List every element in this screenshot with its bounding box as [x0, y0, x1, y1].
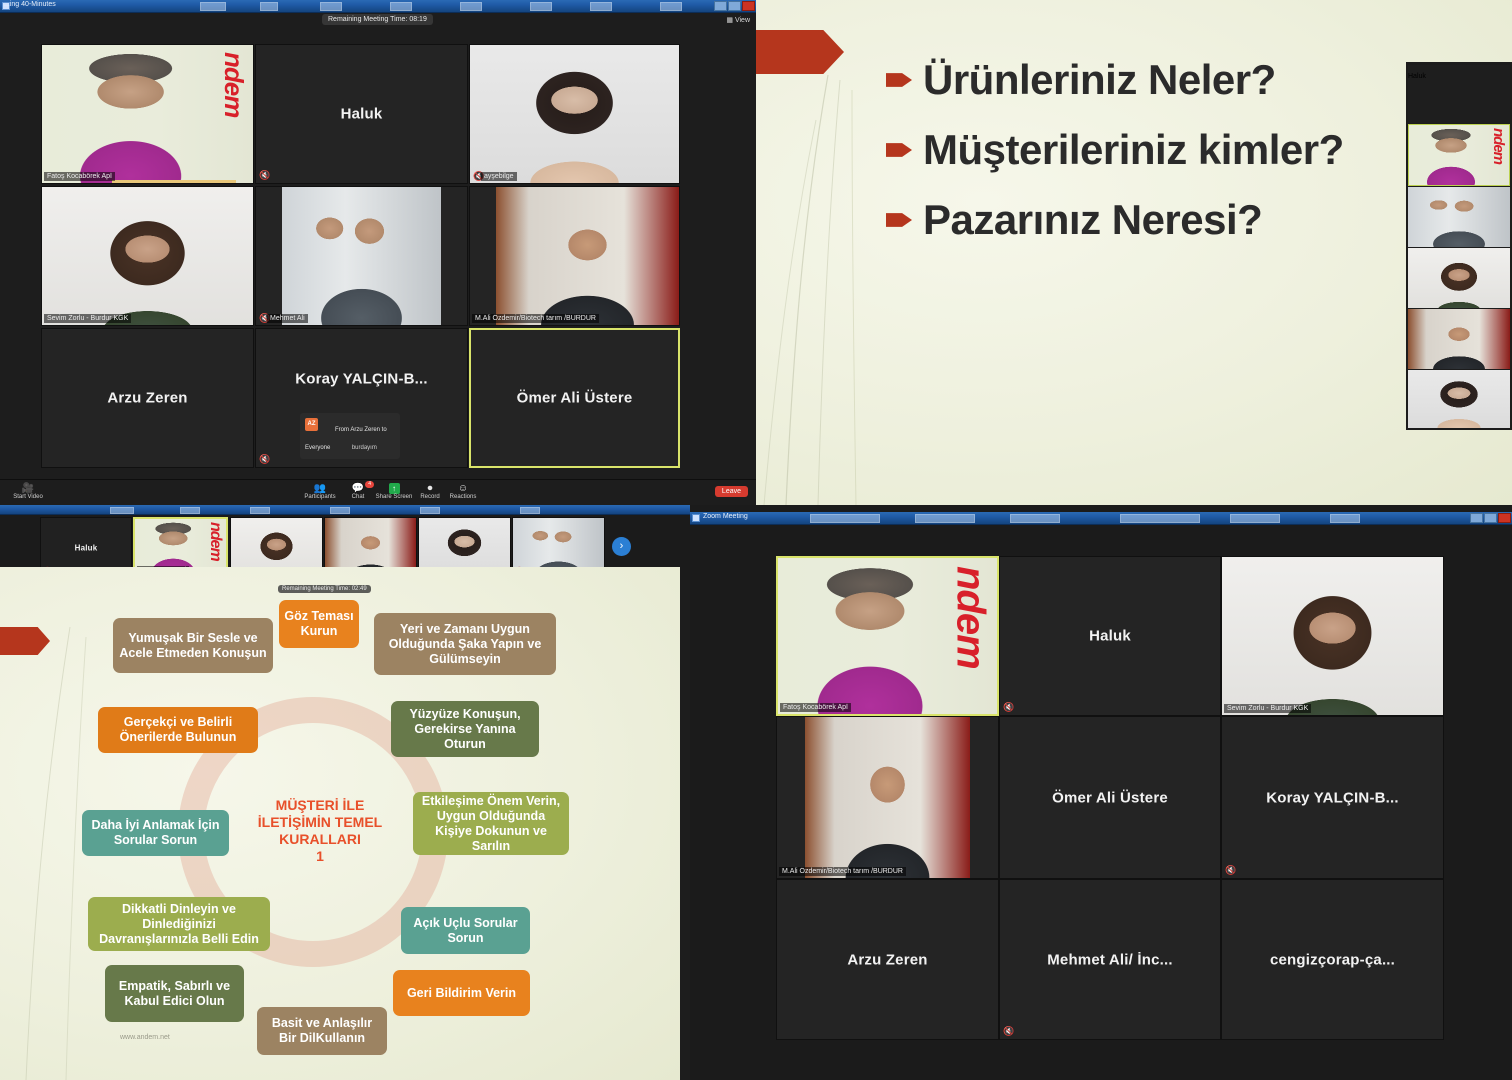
- diagram-box: Açık Uçlu Sorular Sorun: [401, 907, 530, 954]
- diagram-box: Gerçekçi ve Belirli Önerilerde Bulunun: [98, 707, 258, 753]
- participant-name: cengizçorap-ça...: [1222, 951, 1443, 968]
- participant-name: Sevim Zorlu - Burdur KGK: [1224, 704, 1311, 713]
- panel-top-right-slide: Ürünleriniz Neler? Müşterileriniz kimler…: [756, 0, 1512, 505]
- participant-video: [1222, 557, 1443, 715]
- filmstrip-next-button[interactable]: ›: [612, 537, 631, 556]
- participant-name: M.Ali Özdemir/Biotech tarım /BURDUR: [472, 314, 599, 323]
- bullet-text: Müşterileriniz kimler?: [923, 126, 1344, 174]
- view-button-label: View: [735, 17, 750, 24]
- participant-video: [42, 187, 253, 325]
- participant-video: [805, 717, 970, 878]
- window-title-bar: Zoom Meeting: [690, 512, 1512, 525]
- participant-name: Ömer Ali Üstere: [471, 390, 678, 407]
- filmstrip-tile[interactable]: Haluk: [1408, 65, 1510, 123]
- panel-bottom-right-zoom-window: Zoom Meeting ndem Fatoş Kocabörek Apİ Ha…: [690, 505, 1512, 1080]
- participant-video: [1408, 248, 1510, 308]
- diagram-slide: Göz Teması Kurun Yumuşak Bir Sesle ve Ac…: [0, 567, 680, 1080]
- minimize-button[interactable]: [1470, 513, 1483, 523]
- video-tile[interactable]: Arzu Zeren: [776, 879, 999, 1040]
- participant-name: ayşebilge: [481, 172, 517, 181]
- zoom-toolbar: 🎥 Start Video 👥 Participants 💬 4 Chat ↑ …: [0, 479, 756, 505]
- chat-label: Chat: [352, 494, 365, 500]
- participant-video: [1408, 187, 1510, 247]
- diagram-box: Dikkatli Dinleyin ve Dinlediğinizi Davra…: [88, 897, 270, 951]
- window-title-bar: [0, 505, 690, 515]
- panel-bottom-left: Haluk 🔇 ndem Fatoş Kocabörek Apİ Sevim Z…: [0, 505, 690, 1080]
- participant-name: Koray YALÇIN-B...: [1222, 789, 1443, 806]
- reactions-button[interactable]: ☺ Reactions: [437, 483, 489, 500]
- diagram-box: Geri Bildirim Verin: [393, 970, 530, 1016]
- diagram-center-title: MÜŞTERİ İLE İLETİŞİMİN TEMEL KURALLARI 1: [240, 797, 400, 865]
- video-tile[interactable]: Sevim Zorlu - Burdur KGK: [1221, 556, 1444, 716]
- bullet-arrow-icon: [886, 71, 912, 90]
- video-tile[interactable]: Mehmet Ali/ İnc... 🔇: [999, 879, 1221, 1040]
- video-tile[interactable]: Ömer Ali Üstere: [999, 716, 1221, 879]
- filmstrip: Haluk ndem Fatoş Kocabörek Apİ Mehmet Al…: [1406, 62, 1512, 430]
- participant-name: Haluk: [41, 543, 131, 552]
- reactions-icon: ☺: [437, 483, 489, 494]
- window-controls[interactable]: [1470, 513, 1511, 523]
- video-tile[interactable]: M.Ali Özdemir/Biotech tarım /BURDUR: [469, 186, 680, 326]
- window-title: ...ing 40-Minutes: [4, 1, 56, 8]
- start-video-label: Start Video: [13, 494, 43, 500]
- window-title: Zoom Meeting: [703, 513, 748, 520]
- participant-name: Koray YALÇIN-B...: [256, 371, 467, 388]
- muted-icon: 🔇: [1225, 866, 1233, 875]
- video-tile-active-speaker[interactable]: Ömer Ali Üstere: [469, 328, 680, 468]
- maximize-button[interactable]: [1484, 513, 1497, 523]
- leave-button[interactable]: Leave: [715, 486, 748, 497]
- filmstrip-tile[interactable]: M.Ali Özdemir/Biotech t...: [1408, 309, 1510, 369]
- filmstrip-tile[interactable]: 🔇 ayşebilge: [1408, 370, 1510, 428]
- muted-icon: 🔇: [1003, 703, 1011, 712]
- video-tile[interactable]: ndem Fatoş Kocabörek Apİ: [41, 44, 254, 184]
- video-tile[interactable]: Koray YALÇIN-B... 🔇: [1221, 716, 1444, 879]
- window-title-bar: ...ing 40-Minutes: [0, 0, 756, 13]
- slide-bullet-list: Ürünleriniz Neler? Müşterileriniz kimler…: [886, 56, 1344, 266]
- video-tile[interactable]: Sevim Zorlu - Burdur KGK: [41, 186, 254, 326]
- participant-name: Fatoş Kocabörek Apİ: [44, 172, 115, 181]
- participant-video: ndem: [778, 558, 997, 714]
- video-tile[interactable]: cengizçorap-ça...: [1221, 879, 1444, 1040]
- meeting-timer: Remaining Meeting Time: 02:49: [278, 585, 371, 593]
- participant-name: Haluk: [256, 106, 467, 123]
- minimize-button[interactable]: [714, 1, 727, 11]
- video-tile[interactable]: Haluk 🔇: [255, 44, 468, 184]
- participant-name: Mehmet Ali: [267, 314, 308, 323]
- participant-video: [1408, 309, 1510, 369]
- close-button[interactable]: [1498, 513, 1511, 523]
- start-video-button[interactable]: 🎥 Start Video: [8, 483, 48, 500]
- diagram-box: Etkileşime Önem Verin, Uygun Olduğunda K…: [413, 792, 569, 855]
- video-tile[interactable]: Haluk 🔇: [999, 556, 1221, 716]
- filmstrip-tile[interactable]: Mehmet Ali/ İnci Tarım: [1408, 187, 1510, 247]
- video-tile[interactable]: Arzu Zeren: [41, 328, 254, 468]
- participant-name: Arzu Zeren: [777, 951, 998, 968]
- participant-name: Mehmet Ali/ İnc...: [1000, 951, 1220, 968]
- participant-name: Haluk: [1000, 628, 1220, 645]
- slide-watermark: www.andem.net: [120, 1034, 170, 1041]
- participants-label: Participants: [304, 494, 335, 500]
- participant-video: [496, 187, 679, 325]
- participant-name: Fatoş Kocabörek Apİ: [780, 703, 851, 712]
- participant-name: M.Ali Özdemir/Biotech tarım /BURDUR: [779, 867, 906, 876]
- screenshot-collage: ...ing 40-Minutes Remaining Meeting Time…: [0, 0, 1512, 1080]
- bullet-arrow-icon: [886, 211, 912, 230]
- bullet-text: Pazarınız Neresi?: [923, 196, 1262, 244]
- participant-video: ndem: [42, 45, 253, 183]
- video-tile[interactable]: 🔇 ayşebilge: [469, 44, 680, 184]
- meeting-timer: Remaining Meeting Time: 08:19: [322, 14, 433, 25]
- reactions-label: Reactions: [450, 494, 477, 500]
- window-controls[interactable]: [714, 1, 755, 11]
- video-tile[interactable]: Koray YALÇIN-B... 🔇 AZ From Arzu Zeren t…: [255, 328, 468, 468]
- diagram-box: Basit ve Anlaşılır Bir DilKullanın: [257, 1007, 387, 1055]
- filmstrip-tile[interactable]: Sevim Zorlu - Burdur KGK: [1408, 248, 1510, 308]
- slide-bullet: Pazarınız Neresi?: [886, 196, 1344, 244]
- diagram-box: Yeri ve Zamanı Uygun Olduğunda Şaka Yapı…: [374, 613, 556, 675]
- diagram-box: Yumuşak Bir Sesle ve Acele Etmeden Konuş…: [113, 618, 273, 673]
- bullet-text: Ürünleriniz Neler?: [923, 56, 1276, 104]
- video-tile[interactable]: M.Ali Özdemir/Biotech tarım /BURDUR: [776, 716, 999, 879]
- muted-icon: 🔇: [259, 455, 267, 464]
- filmstrip-tile-active-speaker[interactable]: ndem Fatoş Kocabörek Apİ: [1408, 124, 1510, 186]
- participant-name: Sevim Zorlu - Burdur KGK: [44, 314, 131, 323]
- diagram-center-number: 1: [316, 848, 324, 864]
- muted-icon: 🔇: [473, 172, 481, 181]
- avatar: AZ: [305, 418, 318, 431]
- participant-video: [282, 187, 441, 325]
- slide-bullet: Ürünleriniz Neler?: [886, 56, 1344, 104]
- bullet-arrow-icon: [886, 141, 912, 160]
- view-button[interactable]: ▦ View: [726, 16, 750, 24]
- muted-icon: 🔇: [259, 314, 267, 323]
- chat-toast[interactable]: AZ From Arzu Zeren to Everyone burdayım: [300, 413, 400, 459]
- diagram-box: Empatik, Sabırlı ve Kabul Edici Olun: [105, 965, 244, 1022]
- participant-name: Ömer Ali Üstere: [1000, 789, 1220, 806]
- diagram-box: Yüzyüze Konuşun, Gerekirse Yanına Oturun: [391, 701, 539, 757]
- diagram-center-title-text: MÜŞTERİ İLE İLETİŞİMİN TEMEL KURALLARI: [258, 797, 382, 847]
- participant-name: Haluk: [1408, 73, 1426, 80]
- camera-off-icon: 🎥: [8, 483, 48, 494]
- participant-video: ndem: [1409, 125, 1509, 185]
- muted-icon: 🔇: [259, 171, 267, 180]
- app-icon: [692, 514, 700, 522]
- video-tile[interactable]: 🔇 Mehmet Ali: [255, 186, 468, 326]
- video-tile-active-speaker[interactable]: ndem Fatoş Kocabörek Apİ: [776, 556, 999, 716]
- maximize-button[interactable]: [728, 1, 741, 11]
- diagram-box: Daha İyi Anlamak İçin Sorular Sorun: [82, 810, 229, 856]
- circle-diagram: Göz Teması Kurun Yumuşak Bir Sesle ve Ac…: [0, 567, 680, 1080]
- muted-icon: 🔇: [1003, 1027, 1011, 1036]
- participant-video: [1408, 370, 1510, 428]
- panel-top-left-zoom-window: ...ing 40-Minutes Remaining Meeting Time…: [0, 0, 756, 505]
- participant-video: [470, 45, 679, 183]
- diagram-box: Göz Teması Kurun: [279, 600, 359, 648]
- participant-name: Arzu Zeren: [42, 390, 253, 407]
- slide-bullet: Müşterileriniz kimler?: [886, 126, 1344, 174]
- chat-toast-message: burdayım: [352, 445, 377, 451]
- close-button[interactable]: [742, 1, 755, 11]
